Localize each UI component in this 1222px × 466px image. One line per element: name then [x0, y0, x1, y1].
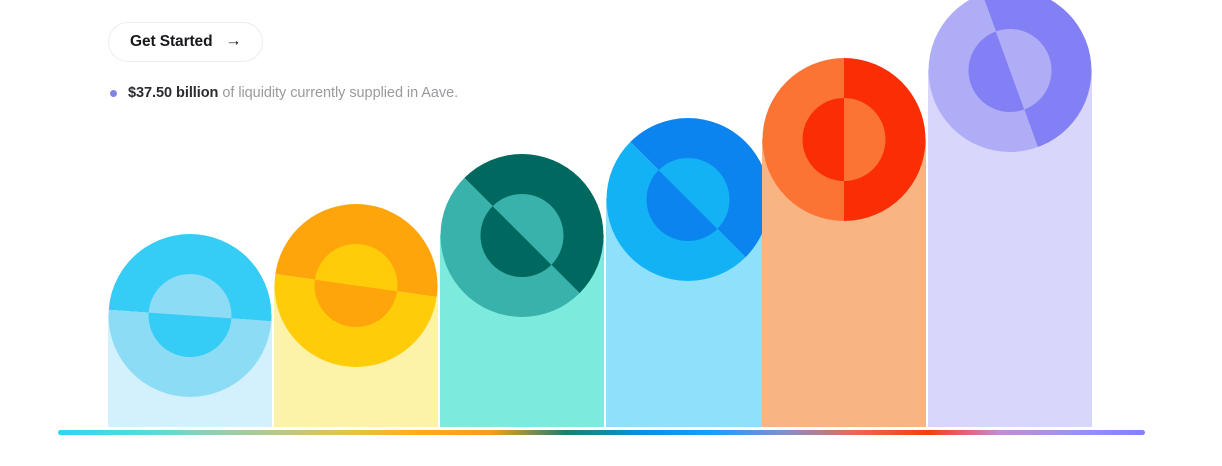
bar-column[interactable]: [928, 70, 1092, 427]
donut-marker: [441, 154, 604, 317]
bar-column[interactable]: [606, 199, 770, 427]
donut-marker: [929, 0, 1092, 152]
donut-marker: [607, 118, 770, 281]
bar-column[interactable]: [440, 235, 604, 427]
bar-column[interactable]: [762, 139, 926, 427]
donut-marker: [109, 234, 272, 397]
gradient-rule: [58, 430, 1145, 435]
chart-stage: Get Started → $37.50 billion of liquidit…: [0, 0, 1222, 466]
donut-marker: [763, 58, 926, 221]
bar-column[interactable]: [108, 315, 272, 427]
bar-column[interactable]: [274, 285, 438, 427]
donut-marker: [275, 204, 438, 367]
bar-chart: [0, 0, 1222, 466]
